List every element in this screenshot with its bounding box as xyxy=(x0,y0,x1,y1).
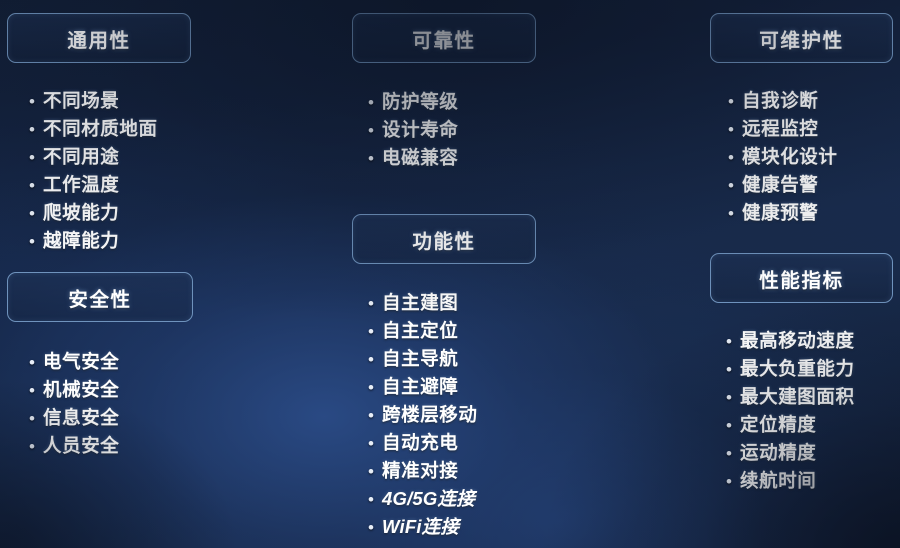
capability-board: 通用性 • 不同场景 • 不同材质地面 • 不同用途 • 工作温度 xyxy=(0,0,900,548)
bullet-icon: • xyxy=(21,354,43,371)
list-item-label: 跨楼层移动 xyxy=(382,401,478,427)
bullet-icon: • xyxy=(720,149,742,166)
list-item-label: 4G/5G连接 xyxy=(382,485,475,511)
list-item[interactable]: • 电气安全 xyxy=(21,348,193,376)
bullet-icon: • xyxy=(720,93,742,110)
bullet-icon: • xyxy=(360,491,382,508)
bullet-icon: • xyxy=(360,435,382,452)
bullet-icon: • xyxy=(21,410,43,427)
group-header-performance[interactable]: 性能指标 xyxy=(710,253,893,303)
list-item[interactable]: • WiFi连接 xyxy=(360,513,536,541)
list-item-label: 不同用途 xyxy=(43,143,119,169)
bullet-icon: • xyxy=(360,379,382,396)
list-item-label: 自主避障 xyxy=(382,373,458,399)
list-item[interactable]: • 越障能力 xyxy=(21,227,191,255)
group-title-generality: 通用性 xyxy=(67,24,130,53)
list-item[interactable]: • 定位精度 xyxy=(718,411,893,439)
item-list-reliability: • 防护等级 • 设计寿命 • 电磁兼容 xyxy=(360,88,536,172)
list-item[interactable]: • 4G/5G连接 xyxy=(360,485,536,513)
group-title-performance: 性能指标 xyxy=(759,264,843,293)
bullet-icon: • xyxy=(21,438,43,455)
bullet-icon: • xyxy=(718,361,740,378)
item-list-generality: • 不同场景 • 不同材质地面 • 不同用途 • 工作温度 • 爬坡能力 xyxy=(21,87,191,255)
item-list-safety: • 电气安全 • 机械安全 • 信息安全 • 人员安全 xyxy=(21,348,193,460)
bullet-icon: • xyxy=(21,121,43,138)
group-reliability: 可靠性 • 防护等级 • 设计寿命 • 电磁兼容 xyxy=(352,13,536,172)
list-item[interactable]: • 健康预警 xyxy=(720,199,893,227)
list-item[interactable]: • 不同用途 xyxy=(21,143,191,171)
bullet-icon: • xyxy=(360,519,382,536)
list-item-label: 电气安全 xyxy=(43,348,119,374)
list-item[interactable]: • 设计寿命 xyxy=(360,116,536,144)
bullet-icon: • xyxy=(718,333,740,350)
group-header-maintainability[interactable]: 可维护性 xyxy=(710,13,893,63)
list-item-label: 电磁兼容 xyxy=(382,144,458,170)
list-item[interactable]: • 最高移动速度 xyxy=(718,327,893,355)
list-item-label: 自主定位 xyxy=(382,317,458,343)
bullet-icon: • xyxy=(21,233,43,250)
item-list-performance: • 最高移动速度 • 最大负重能力 • 最大建图面积 • 定位精度 • 运动 xyxy=(718,327,893,495)
list-item[interactable]: • 不同材质地面 xyxy=(21,115,191,143)
bullet-icon: • xyxy=(720,177,742,194)
list-item-label: 信息安全 xyxy=(43,404,119,430)
item-list-functionality: • 自主建图 • 自主定位 • 自主导航 • 自主避障 • 跨楼层移动 xyxy=(360,289,536,541)
list-item[interactable]: • 精准对接 xyxy=(360,457,536,485)
list-item[interactable]: • 机械安全 xyxy=(21,376,193,404)
list-item-label: 健康告警 xyxy=(742,171,818,197)
list-item[interactable]: • 人员安全 xyxy=(21,432,193,460)
group-header-reliability[interactable]: 可靠性 xyxy=(352,13,536,63)
item-list-maintainability: • 自我诊断 • 远程监控 • 模块化设计 • 健康告警 • 健康预警 xyxy=(720,87,893,227)
list-item[interactable]: • 自主建图 xyxy=(360,289,536,317)
bullet-icon: • xyxy=(360,94,382,111)
list-item-label: 设计寿命 xyxy=(382,116,458,142)
list-item[interactable]: • 工作温度 xyxy=(21,171,191,199)
list-item[interactable]: • 爬坡能力 xyxy=(21,199,191,227)
bullet-icon: • xyxy=(21,93,43,110)
list-item-label: 精准对接 xyxy=(382,457,458,483)
list-item-label: 自主导航 xyxy=(382,345,458,371)
list-item[interactable]: • 远程监控 xyxy=(720,115,893,143)
bullet-icon: • xyxy=(360,351,382,368)
list-item-label: 自动充电 xyxy=(382,429,458,455)
list-item-label: 自我诊断 xyxy=(742,87,818,113)
group-header-safety[interactable]: 安全性 xyxy=(7,272,193,322)
list-item[interactable]: • 最大负重能力 xyxy=(718,355,893,383)
bullet-icon: • xyxy=(21,149,43,166)
list-item[interactable]: • 运动精度 xyxy=(718,439,893,467)
group-title-functionality: 功能性 xyxy=(412,225,475,254)
list-item-label: 越障能力 xyxy=(43,227,119,253)
list-item-label: 最大建图面积 xyxy=(740,383,855,409)
list-item[interactable]: • 自主定位 xyxy=(360,317,536,345)
group-safety: 安全性 • 电气安全 • 机械安全 • 信息安全 • 人员安全 xyxy=(7,272,193,460)
list-item[interactable]: • 模块化设计 xyxy=(720,143,893,171)
list-item[interactable]: • 健康告警 xyxy=(720,171,893,199)
list-item-label: 远程监控 xyxy=(742,115,818,141)
bullet-icon: • xyxy=(718,417,740,434)
bullet-icon: • xyxy=(360,295,382,312)
list-item-label: 不同场景 xyxy=(43,87,119,113)
group-performance: 性能指标 • 最高移动速度 • 最大负重能力 • 最大建图面积 • 定位精度 xyxy=(710,253,893,495)
list-item-label: 工作温度 xyxy=(43,171,119,197)
bullet-icon: • xyxy=(360,407,382,424)
list-item-label: WiFi连接 xyxy=(382,513,459,539)
list-item-label: 防护等级 xyxy=(382,88,458,114)
bullet-icon: • xyxy=(360,150,382,167)
list-item-label: 最大负重能力 xyxy=(740,355,855,381)
group-header-functionality[interactable]: 功能性 xyxy=(352,214,536,264)
bullet-icon: • xyxy=(21,177,43,194)
list-item[interactable]: • 自主导航 xyxy=(360,345,536,373)
bullet-icon: • xyxy=(360,323,382,340)
list-item-label: 健康预警 xyxy=(742,199,818,225)
group-functionality: 功能性 • 自主建图 • 自主定位 • 自主导航 • 自主避障 xyxy=(352,214,536,541)
list-item[interactable]: • 自主避障 xyxy=(360,373,536,401)
list-item-label: 续航时间 xyxy=(740,467,816,493)
bullet-icon: • xyxy=(360,463,382,480)
list-item-label: 最高移动速度 xyxy=(740,327,855,353)
group-maintainability: 可维护性 • 自我诊断 • 远程监控 • 模块化设计 • 健康告警 xyxy=(710,13,893,227)
list-item-label: 运动精度 xyxy=(740,439,816,465)
group-title-reliability: 可靠性 xyxy=(412,24,475,53)
group-generality: 通用性 • 不同场景 • 不同材质地面 • 不同用途 • 工作温度 xyxy=(7,13,191,255)
list-item[interactable]: • 续航时间 xyxy=(718,467,893,495)
bullet-icon: • xyxy=(21,205,43,222)
group-header-generality[interactable]: 通用性 xyxy=(7,13,191,63)
bullet-icon: • xyxy=(21,382,43,399)
group-title-maintainability: 可维护性 xyxy=(759,24,843,53)
list-item[interactable]: • 自动充电 xyxy=(360,429,536,457)
list-item[interactable]: • 电磁兼容 xyxy=(360,144,536,172)
list-item[interactable]: • 跨楼层移动 xyxy=(360,401,536,429)
list-item[interactable]: • 自我诊断 xyxy=(720,87,893,115)
group-title-safety: 安全性 xyxy=(68,283,131,312)
bullet-icon: • xyxy=(718,389,740,406)
bullet-icon: • xyxy=(720,205,742,222)
list-item-label: 模块化设计 xyxy=(742,143,838,169)
list-item-label: 人员安全 xyxy=(43,432,119,458)
list-item-label: 定位精度 xyxy=(740,411,816,437)
list-item[interactable]: • 不同场景 xyxy=(21,87,191,115)
bullet-icon: • xyxy=(360,122,382,139)
list-item-label: 机械安全 xyxy=(43,376,119,402)
bullet-icon: • xyxy=(720,121,742,138)
bullet-icon: • xyxy=(718,445,740,462)
list-item-label: 不同材质地面 xyxy=(43,115,158,141)
list-item[interactable]: • 防护等级 xyxy=(360,88,536,116)
list-item[interactable]: • 信息安全 xyxy=(21,404,193,432)
list-item[interactable]: • 最大建图面积 xyxy=(718,383,893,411)
bullet-icon: • xyxy=(718,473,740,490)
list-item-label: 自主建图 xyxy=(382,289,458,315)
list-item-label: 爬坡能力 xyxy=(43,199,119,225)
